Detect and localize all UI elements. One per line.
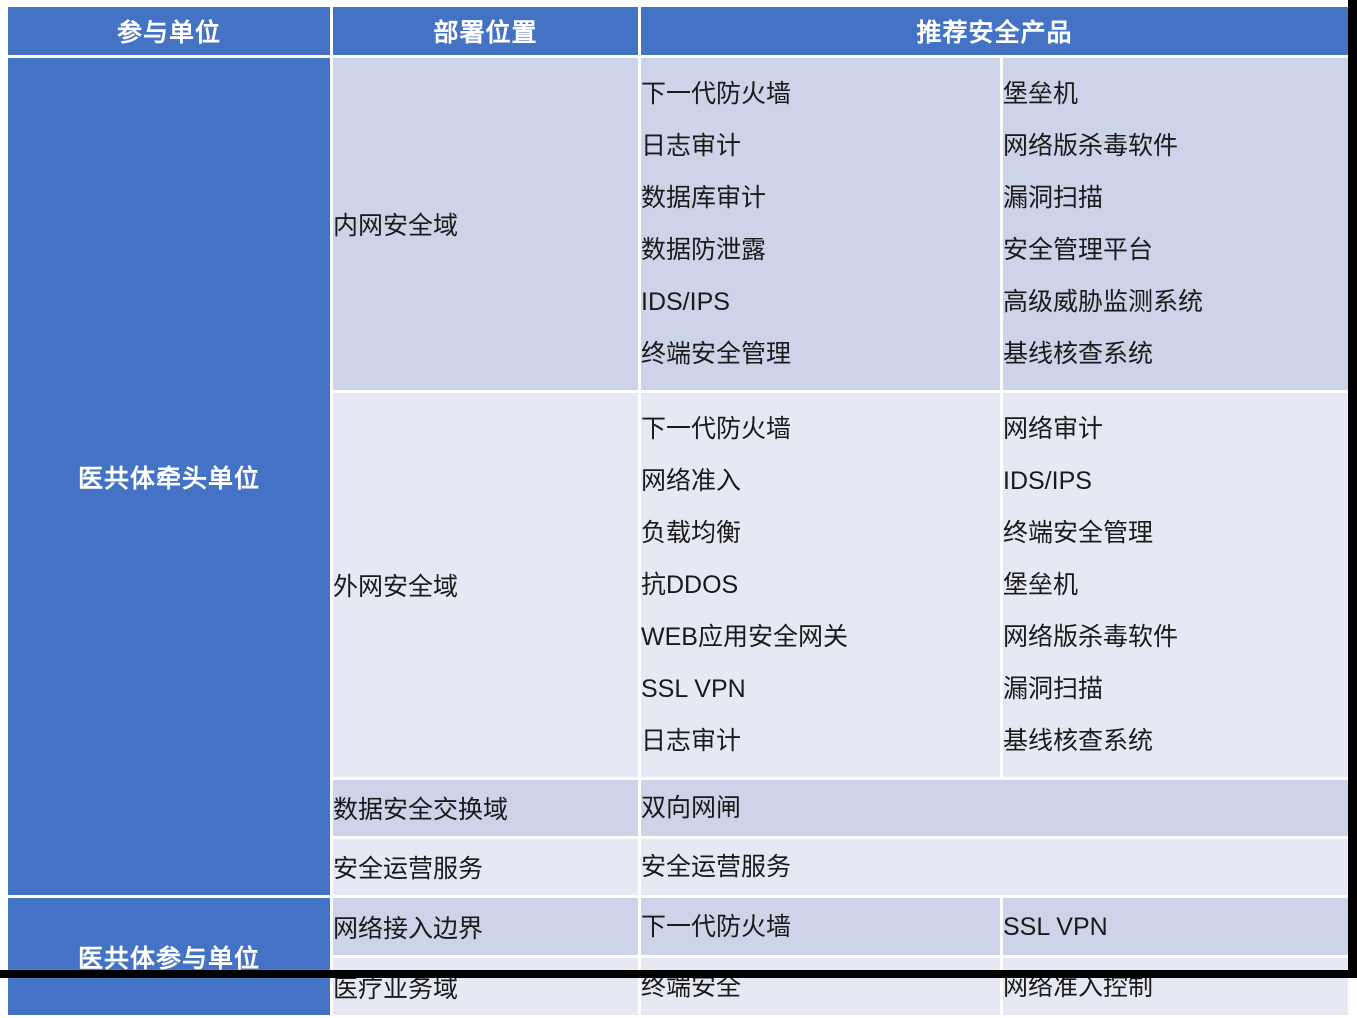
product-item: WEB应用安全网关: [641, 611, 1000, 663]
product-item: 终端安全管理: [1003, 507, 1348, 559]
product-item: 下一代防火墙: [641, 403, 1000, 455]
product-item: 下一代防火墙: [641, 68, 1000, 120]
product-list: 网络审计 IDS/IPS 终端安全管理 堡垒机 网络版杀毒软件 漏洞扫描 基线核…: [1003, 393, 1348, 777]
product-item: 网络审计: [1003, 403, 1348, 455]
product-item: 安全运营服务: [641, 839, 1348, 895]
product-item: 日志审计: [641, 715, 1000, 767]
unit-cell-participating: 医共体参与单位: [8, 898, 330, 1015]
product-item: 堡垒机: [1003, 68, 1348, 120]
product-cell-col1: 下一代防火墙 日志审计 数据库审计 数据防泄露 IDS/IPS 终端安全管理: [641, 58, 1000, 390]
table-row: 医共体参与单位 网络接入边界 下一代防火墙 SSL VPN: [8, 898, 1348, 955]
product-item: 抗DDOS: [641, 559, 1000, 611]
security-deployment-table-wrapper: 参与单位 部署位置 推荐安全产品 医共体牵头单位 内网安全域 下一代防火墙 日志…: [5, 4, 1348, 970]
header-cell-recommended-products: 推荐安全产品: [641, 7, 1348, 55]
frame-edge-bottom: [0, 970, 1357, 978]
product-cell-merged: 安全运营服务: [641, 839, 1348, 895]
product-item: SSL VPN: [1003, 899, 1348, 955]
product-item: 安全管理平台: [1003, 224, 1348, 276]
product-list: 堡垒机 网络版杀毒软件 漏洞扫描 安全管理平台 高级威胁监测系统 基线核查系统: [1003, 58, 1348, 390]
product-cell-merged: 双向网闸: [641, 780, 1348, 836]
product-item: 高级威胁监测系统: [1003, 276, 1348, 328]
product-item: 数据库审计: [641, 172, 1000, 224]
product-item: 双向网闸: [641, 780, 1348, 836]
security-deployment-table: 参与单位 部署位置 推荐安全产品 医共体牵头单位 内网安全域 下一代防火墙 日志…: [5, 4, 1351, 1018]
product-cell-col1: 终端安全: [641, 958, 1000, 1015]
product-item: 日志审计: [641, 120, 1000, 172]
zone-cell-external-network: 外网安全域: [333, 393, 638, 777]
product-cell-col2: 堡垒机 网络版杀毒软件 漏洞扫描 安全管理平台 高级威胁监测系统 基线核查系统: [1003, 58, 1348, 390]
product-list: 下一代防火墙 网络准入 负载均衡 抗DDOS WEB应用安全网关 SSL VPN…: [641, 393, 1000, 777]
product-item: 终端安全管理: [641, 328, 1000, 380]
table-body: 医共体牵头单位 内网安全域 下一代防火墙 日志审计 数据库审计 数据防泄露 ID…: [8, 58, 1348, 1015]
product-item: SSL VPN: [641, 663, 1000, 715]
slide-page: 参与单位 部署位置 推荐安全产品 医共体牵头单位 内网安全域 下一代防火墙 日志…: [0, 0, 1357, 978]
zone-cell-network-access-boundary: 网络接入边界: [333, 898, 638, 955]
product-list: 下一代防火墙 日志审计 数据库审计 数据防泄露 IDS/IPS 终端安全管理: [641, 58, 1000, 390]
product-item: 漏洞扫描: [1003, 663, 1348, 715]
product-item: 负载均衡: [641, 507, 1000, 559]
header-cell-deployment-location: 部署位置: [333, 7, 638, 55]
product-item: 数据防泄露: [641, 224, 1000, 276]
zone-cell-data-exchange: 数据安全交换域: [333, 780, 638, 836]
zone-cell-security-operations: 安全运营服务: [333, 839, 638, 895]
unit-cell-lead: 医共体牵头单位: [8, 58, 330, 895]
product-cell-col1: 下一代防火墙: [641, 898, 1000, 955]
product-cell-col2: 网络准入控制: [1003, 958, 1348, 1015]
product-item: 网络准入控制: [1003, 959, 1348, 1015]
product-item: 网络准入: [641, 455, 1000, 507]
product-item: 网络版杀毒软件: [1003, 611, 1348, 663]
product-item: IDS/IPS: [641, 276, 1000, 328]
product-item: 堡垒机: [1003, 559, 1348, 611]
product-cell-col2: 网络审计 IDS/IPS 终端安全管理 堡垒机 网络版杀毒软件 漏洞扫描 基线核…: [1003, 393, 1348, 777]
header-cell-participating-unit: 参与单位: [8, 7, 330, 55]
product-item: 基线核查系统: [1003, 715, 1348, 767]
product-item: IDS/IPS: [1003, 455, 1348, 507]
product-cell-col1: 下一代防火墙 网络准入 负载均衡 抗DDOS WEB应用安全网关 SSL VPN…: [641, 393, 1000, 777]
product-cell-col2: SSL VPN: [1003, 898, 1348, 955]
product-item: 下一代防火墙: [641, 899, 1000, 955]
product-item: 网络版杀毒软件: [1003, 120, 1348, 172]
frame-edge-right: [1348, 0, 1357, 978]
product-item: 基线核查系统: [1003, 328, 1348, 380]
header-row: 参与单位 部署位置 推荐安全产品: [8, 7, 1348, 55]
table-row: 医共体牵头单位 内网安全域 下一代防火墙 日志审计 数据库审计 数据防泄露 ID…: [8, 58, 1348, 390]
zone-cell-internal-network: 内网安全域: [333, 58, 638, 390]
product-item: 漏洞扫描: [1003, 172, 1348, 224]
table-header: 参与单位 部署位置 推荐安全产品: [8, 7, 1348, 55]
zone-cell-medical-business: 医疗业务域: [333, 958, 638, 1015]
product-item: 终端安全: [641, 959, 1000, 1015]
